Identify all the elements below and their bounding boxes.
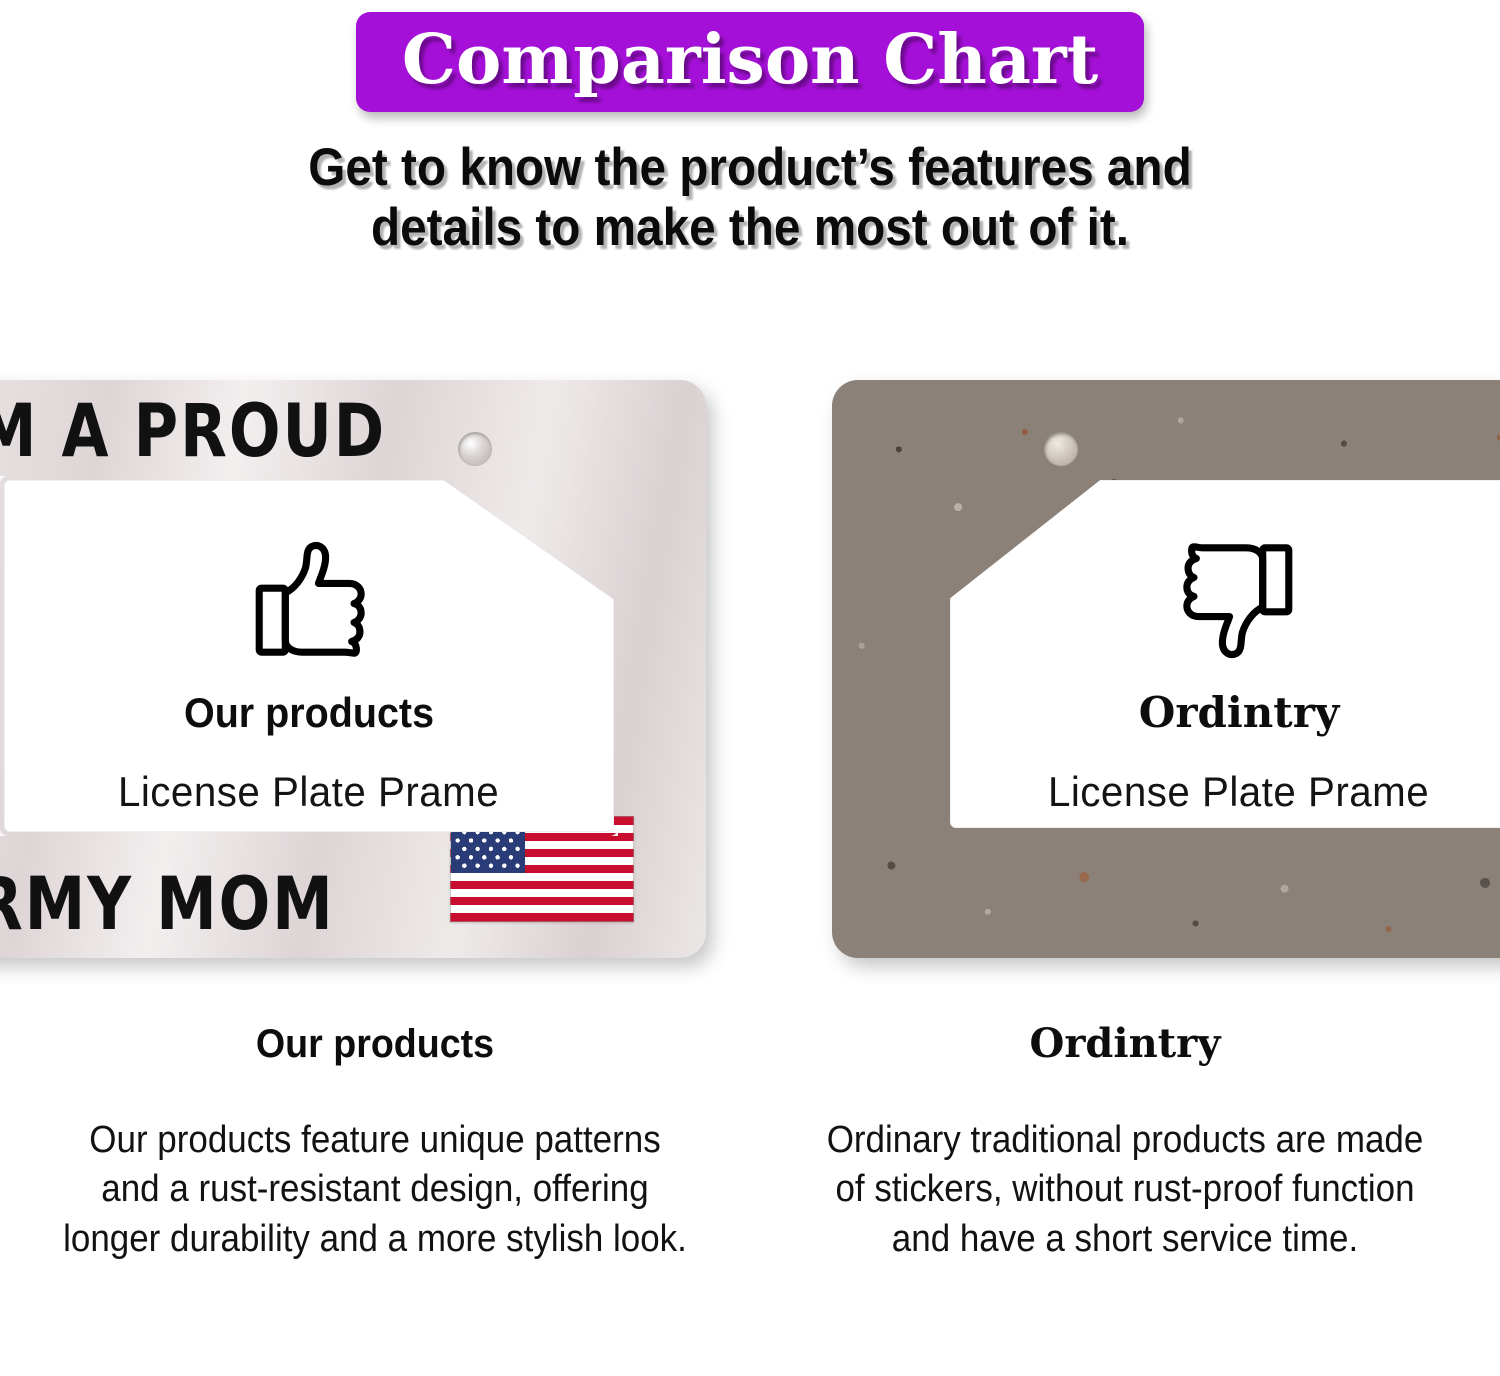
header: Comparison Chart Get to know the product… — [0, 12, 1500, 259]
right-column: Ordintry Ordinary traditional products a… — [750, 1024, 1500, 1376]
our-product-frame: M A PROUD RMY MOM Our products License P… — [0, 380, 706, 958]
right-column-heading: Ordintry — [750, 1024, 1500, 1064]
right-column-body: Ordinary traditional products are made o… — [780, 1116, 1470, 1264]
screw-hole — [458, 432, 492, 466]
page-title: Comparison Chart — [402, 26, 1098, 94]
thumbs-up-icon — [249, 536, 369, 664]
left-product-subheading: License Plate Prame — [118, 768, 499, 816]
left-product-heading: Our products — [184, 692, 434, 734]
comparison-columns: Our products Our products feature unique… — [0, 1024, 1500, 1376]
left-column-body: Our products feature unique patterns and… — [30, 1116, 720, 1264]
product-frames-row: M A PROUD RMY MOM Our products License P… — [0, 380, 1500, 980]
thumbs-down-icon — [1179, 536, 1299, 664]
page-subtitle: Get to know the product’s features and d… — [192, 138, 1308, 259]
title-banner-wrap: Comparison Chart — [0, 12, 1500, 112]
subtitle-line-1: Get to know the product’s features and — [192, 138, 1308, 198]
screw-hole — [1044, 432, 1078, 466]
left-column: Our products Our products feature unique… — [0, 1024, 750, 1376]
plate-top-text: M A PROUD — [0, 387, 386, 473]
subtitle-line-2: details to make the most out of it. — [192, 198, 1308, 258]
plate-bottom-text: RMY MOM — [0, 860, 335, 946]
comparison-chart-banner: Comparison Chart — [356, 12, 1144, 112]
right-product-heading: Ordintry — [1139, 692, 1340, 734]
ordinary-product-frame: Ordintry License Plate Prame — [832, 380, 1500, 958]
right-product-subheading: License Plate Prame — [1048, 768, 1429, 816]
left-column-heading: Our products — [23, 1024, 728, 1064]
